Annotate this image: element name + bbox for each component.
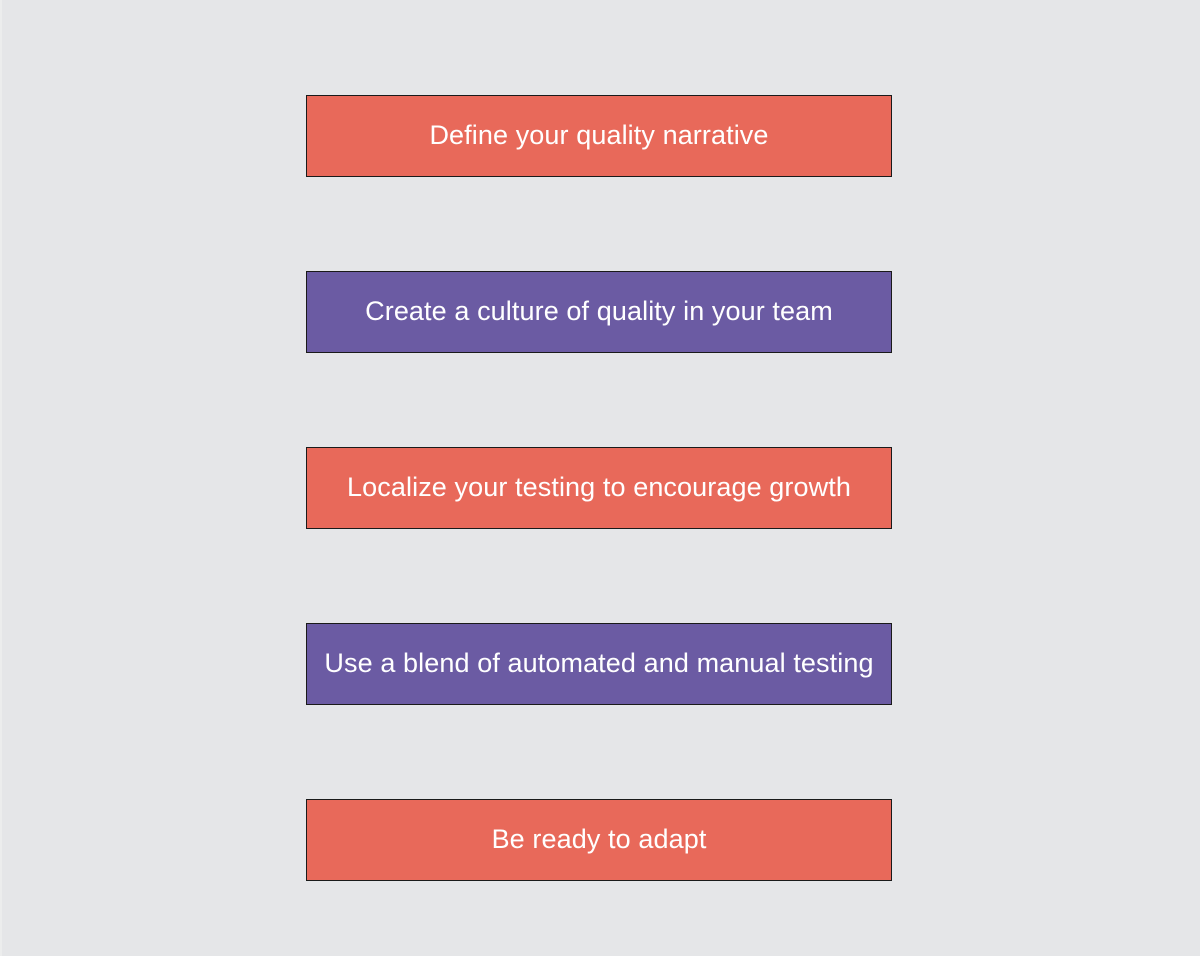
step-box-4-label: Use a blend of automated and manual test…	[324, 648, 873, 679]
step-box-2[interactable]: Create a culture of quality in your team	[306, 271, 892, 353]
diagram-canvas: Define your quality narrative Create a c…	[0, 0, 1200, 956]
step-box-4[interactable]: Use a blend of automated and manual test…	[306, 623, 892, 705]
step-box-1-label: Define your quality narrative	[429, 120, 768, 151]
step-box-2-label: Create a culture of quality in your team	[365, 296, 833, 327]
step-box-3-label: Localize your testing to encourage growt…	[347, 472, 851, 503]
step-box-5-label: Be ready to adapt	[492, 824, 707, 855]
step-box-5[interactable]: Be ready to adapt	[306, 799, 892, 881]
step-box-3[interactable]: Localize your testing to encourage growt…	[306, 447, 892, 529]
step-box-1[interactable]: Define your quality narrative	[306, 95, 892, 177]
